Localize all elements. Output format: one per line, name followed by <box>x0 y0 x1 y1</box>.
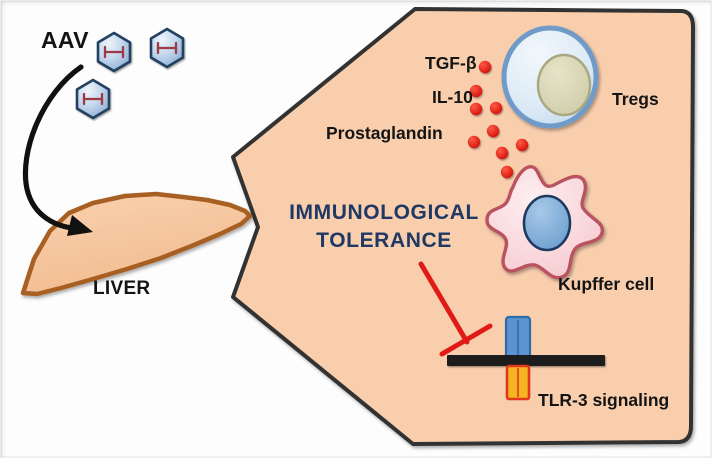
tgf-beta-label: TGF-β <box>425 55 477 73</box>
tregs-label: Tregs <box>612 91 659 109</box>
prostaglandin-label: Prostaglandin <box>326 125 443 143</box>
cytokine-dot <box>487 125 499 137</box>
aav-particle-3 <box>77 80 109 118</box>
il-10-label: IL-10 <box>432 89 473 107</box>
cytokine-dot <box>479 61 491 73</box>
tregs-cell <box>504 28 596 126</box>
aav-particle-2 <box>151 29 183 67</box>
tlr3-signaling-label: TLR-3 signaling <box>538 392 669 410</box>
aav-label: AAV <box>41 29 89 52</box>
tregs-cell-nucleus <box>538 55 590 115</box>
immunological-tolerance-title: IMMUNOLOGICAL TOLERANCE <box>269 199 499 254</box>
cytokine-dot <box>490 102 502 114</box>
tolerance-line-1: IMMUNOLOGICAL <box>269 199 499 227</box>
cytokine-dot <box>516 139 528 151</box>
kupffer-cell-nucleus <box>524 196 570 250</box>
liver-label: LIVER <box>93 279 150 298</box>
cytokine-dot <box>501 166 513 178</box>
cytokine-dot <box>496 147 508 159</box>
figure-canvas: AAV LIVER TGF-β IL-10 Prostaglandin Treg… <box>0 0 712 458</box>
aav-particle-group <box>77 29 183 118</box>
cytokine-dot <box>468 136 480 148</box>
membrane-bar <box>447 355 605 366</box>
aav-particle-1 <box>98 33 130 71</box>
tolerance-line-2: TOLERANCE <box>269 227 499 255</box>
kupffer-cell-label: Kupffer cell <box>558 276 654 294</box>
